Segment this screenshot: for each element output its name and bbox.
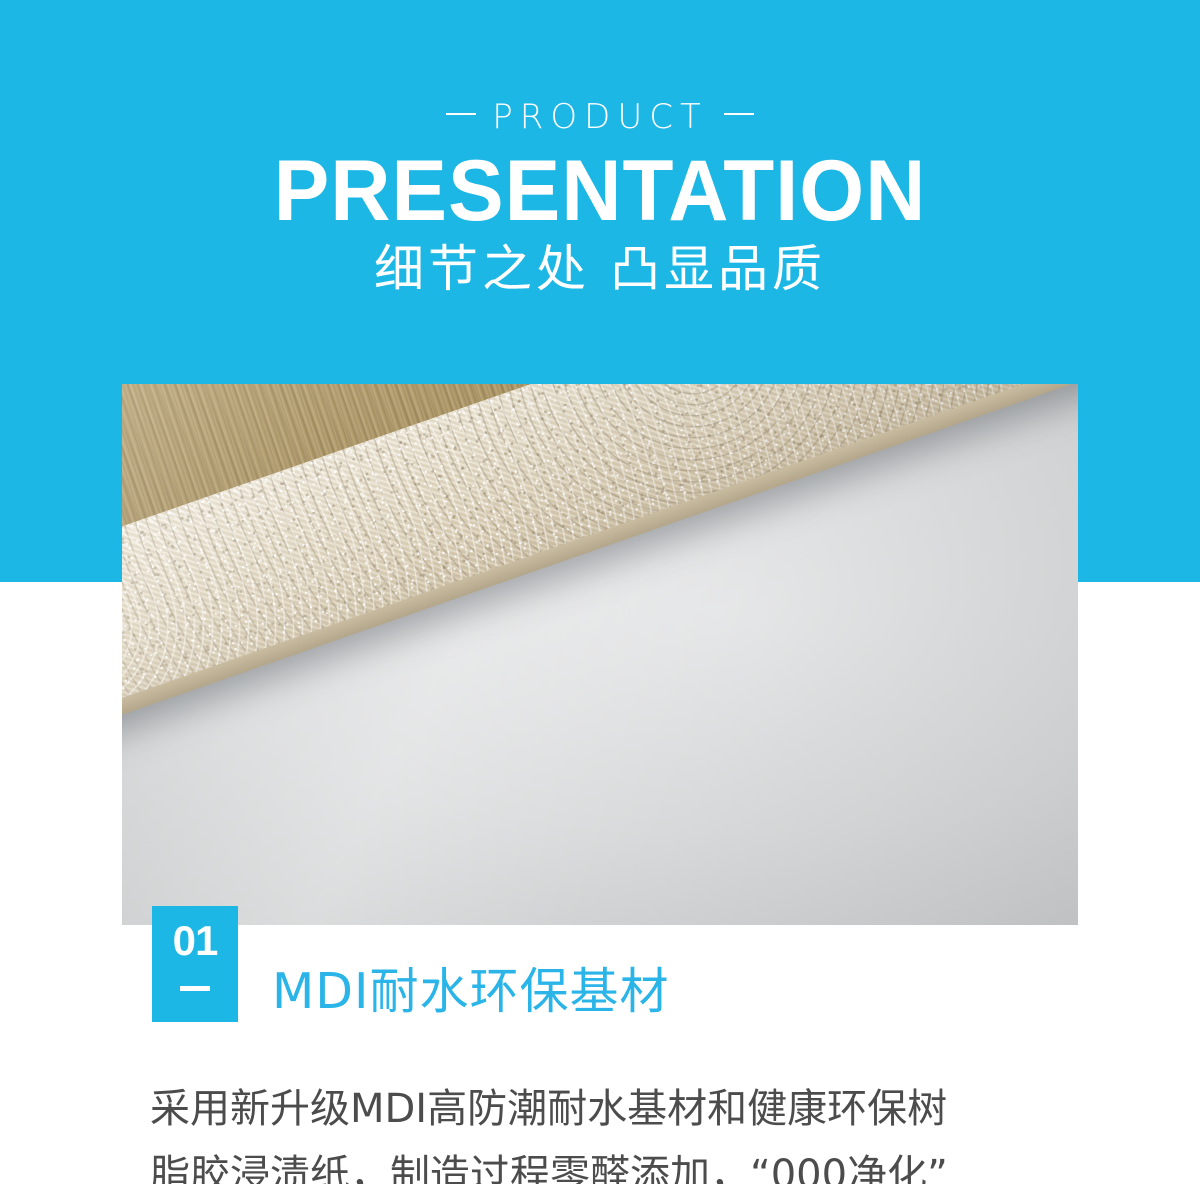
hero-content: PRODUCT PRESENTATION 细节之处 凸显品质 [0, 0, 1200, 299]
body-line: 采用新升级MDI高防潮耐水基材和健康环保树 [150, 1076, 1110, 1142]
section-number-badge: 01 [152, 906, 238, 1022]
dash-right-icon [724, 113, 754, 115]
dash-left-icon [446, 113, 476, 115]
product-photo [122, 384, 1078, 925]
badge-underline-rule [180, 986, 210, 991]
hero-eyebrow: PRODUCT [0, 0, 1200, 134]
section-heading: MDI耐水环保基材 [272, 963, 669, 1021]
section-number-label: 01 [152, 920, 238, 962]
page-title: PRESENTATION [18, 134, 1182, 236]
body-line: 脂胶浸渍纸，制造过程零醛添加，“000净化” [150, 1142, 1110, 1184]
hero-subtitle: 细节之处 凸显品质 [0, 235, 1200, 299]
hero-eyebrow-label: PRODUCT [492, 100, 707, 134]
product-presentation-page: PRODUCT PRESENTATION 细节之处 凸显品质 01 [0, 0, 1200, 1184]
section-body-text: 采用新升级MDI高防潮耐水基材和健康环保树 脂胶浸渍纸，制造过程零醛添加，“00… [150, 1076, 1110, 1184]
